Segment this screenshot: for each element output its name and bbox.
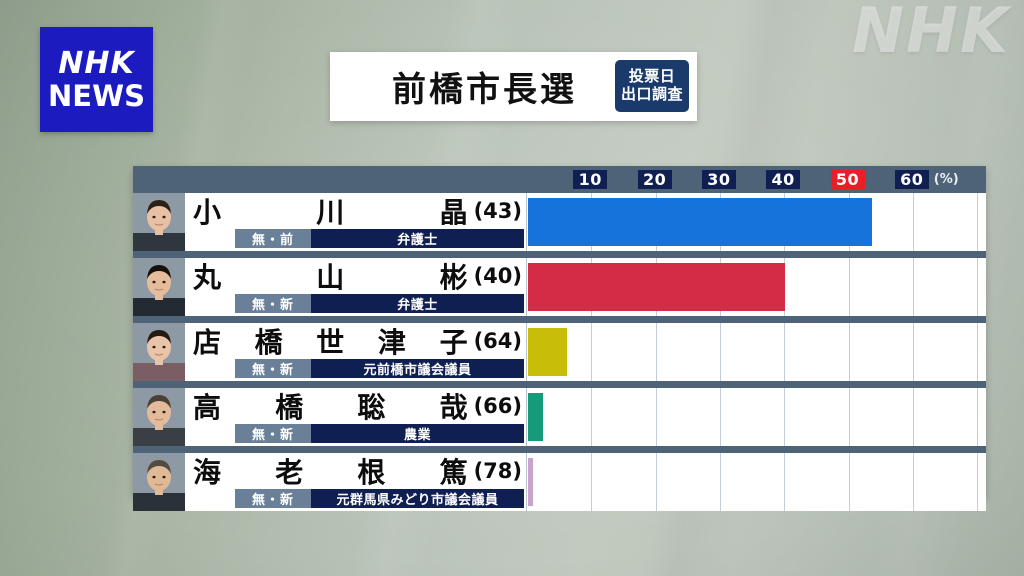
gridline-40 (784, 388, 785, 446)
name-char: 橋 (275, 386, 304, 426)
bar-plot-area (526, 453, 986, 511)
candidate-name-row: 丸山彬(40) (185, 258, 526, 294)
gridline-50 (849, 258, 850, 316)
name-char: 世 (316, 321, 345, 361)
candidate-age: (40) (474, 264, 522, 288)
candidate-occupation-badge: 弁護士 (311, 294, 524, 313)
gridline-30 (720, 323, 721, 381)
name-char: 津 (378, 321, 407, 361)
gridline-20 (656, 453, 657, 511)
gridline-10 (591, 323, 592, 381)
name-char: 篤 (440, 451, 469, 491)
candidate-info: 店橋世津子(64)無・新元前橋市議会議員 (133, 323, 526, 381)
gridline-60 (913, 323, 914, 381)
gridline-60 (913, 193, 914, 251)
candidate-info: 丸山彬(40)無・新弁護士 (133, 258, 526, 316)
name-char: 晶 (440, 191, 469, 231)
exit-poll-badge: 投票日 出口調査 (615, 60, 689, 112)
name-char: 店 (193, 321, 222, 361)
candidate-tags: 無・新弁護士 (235, 294, 524, 313)
table-row: 店橋世津子(64)無・新元前橋市議会議員 (133, 323, 986, 381)
table-row: 高橋聡哉(66)無・新農業 (133, 388, 986, 446)
candidate-info: 小川晶(43)無・前弁護士 (133, 193, 526, 251)
candidate-age: (64) (474, 329, 522, 353)
gridline-20 (656, 323, 657, 381)
axis-unit-label: (%) (934, 172, 959, 187)
title-plate: 前橋市長選 投票日 出口調査 (330, 52, 697, 121)
candidate-name-row: 高橋聡哉(66) (185, 388, 526, 424)
candidate-name: 丸山彬 (193, 256, 471, 296)
logo-line-news: NEWS (48, 81, 145, 111)
badge-line-voting-day: 投票日 (629, 68, 676, 86)
candidate-occupation-badge: 元群馬県みどり市議会議員 (311, 489, 524, 508)
candidate-status-badge: 無・新 (235, 489, 311, 508)
candidate-name: 店橋世津子 (193, 321, 471, 361)
result-bar (528, 393, 543, 441)
page-title: 前橋市長選 (392, 62, 577, 111)
candidate-tags: 無・前弁護士 (235, 229, 524, 248)
axis-scale-bar: 102030405060(%) (133, 166, 986, 193)
candidate-tags: 無・新元前橋市議会議員 (235, 359, 524, 378)
candidate-age: (66) (474, 394, 522, 418)
candidate-name: 海老根篤 (193, 451, 471, 491)
table-row: 海老根篤(78)無・新元群馬県みどり市議会議員 (133, 453, 986, 511)
name-char: 高 (193, 386, 222, 426)
name-char: 橋 (255, 321, 284, 361)
candidate-occupation-badge: 農業 (311, 424, 524, 443)
candidate-name-row: 海老根篤(78) (185, 453, 526, 489)
nhk-news-logo: NHK NEWS (40, 27, 153, 132)
axis-tick-50: 50 (831, 170, 865, 189)
gridline-30 (720, 453, 721, 511)
candidate-name-row: 店橋世津子(64) (185, 323, 526, 359)
candidate-name: 小川晶 (193, 191, 471, 231)
gridline-70 (977, 453, 978, 511)
candidate-photo (133, 453, 185, 511)
candidate-age: (78) (474, 459, 522, 483)
axis-tick-30: 30 (702, 170, 736, 189)
gridline-60 (913, 453, 914, 511)
candidate-rows: 小川晶(43)無・前弁護士丸山彬(40)無・新弁護士店橋世津子(64)無・新元前… (133, 193, 986, 511)
candidate-details: 店橋世津子(64)無・新元前橋市議会議員 (185, 323, 526, 381)
candidate-status-badge: 無・新 (235, 294, 311, 313)
candidate-occupation-badge: 元前橋市議会議員 (311, 359, 524, 378)
candidate-info: 高橋聡哉(66)無・新農業 (133, 388, 526, 446)
candidate-occupation-badge: 弁護士 (311, 229, 524, 248)
candidate-photo (133, 388, 185, 446)
gridline-60 (913, 258, 914, 316)
bar-plot-area (526, 193, 986, 251)
candidate-status-badge: 無・前 (235, 229, 311, 248)
gridline-50 (849, 388, 850, 446)
gridline-50 (849, 323, 850, 381)
bar-plot-area (526, 388, 986, 446)
logo-line-nhk: NHK (58, 48, 134, 80)
gridline-40 (784, 323, 785, 381)
name-char: 老 (275, 451, 304, 491)
candidate-name-row: 小川晶(43) (185, 193, 526, 229)
gridline-30 (720, 388, 721, 446)
gridline-20 (656, 388, 657, 446)
name-char: 海 (193, 451, 222, 491)
candidate-details: 高橋聡哉(66)無・新農業 (185, 388, 526, 446)
axis-tick-10: 10 (573, 170, 607, 189)
bar-plot-area (526, 258, 986, 316)
candidate-tags: 無・新元群馬県みどり市議会議員 (235, 489, 524, 508)
result-bar (528, 198, 872, 246)
candidate-details: 海老根篤(78)無・新元群馬県みどり市議会議員 (185, 453, 526, 511)
candidate-photo (133, 258, 185, 316)
name-char: 根 (357, 451, 386, 491)
gridline-50 (849, 453, 850, 511)
results-panel: 102030405060(%) 小川晶(43)無・前弁護士丸山彬(40)無・新弁… (133, 166, 986, 496)
candidate-age: (43) (474, 199, 522, 223)
gridline-40 (784, 453, 785, 511)
candidate-photo (133, 193, 185, 251)
gridline-10 (591, 388, 592, 446)
result-bar (528, 458, 533, 506)
candidate-info: 海老根篤(78)無・新元群馬県みどり市議会議員 (133, 453, 526, 511)
gridline-70 (977, 258, 978, 316)
candidate-name: 高橋聡哉 (193, 386, 471, 426)
name-char: 川 (316, 191, 345, 231)
name-char: 小 (193, 191, 222, 231)
table-row: 小川晶(43)無・前弁護士 (133, 193, 986, 251)
result-bar (528, 263, 785, 311)
gridline-70 (977, 323, 978, 381)
candidate-tags: 無・新農業 (235, 424, 524, 443)
name-char: 山 (316, 256, 345, 296)
gridline-70 (977, 193, 978, 251)
badge-line-exit-poll: 出口調査 (621, 86, 683, 104)
gridline-60 (913, 388, 914, 446)
candidate-photo (133, 323, 185, 381)
table-row: 丸山彬(40)無・新弁護士 (133, 258, 986, 316)
name-char: 丸 (193, 256, 222, 296)
candidate-status-badge: 無・新 (235, 424, 311, 443)
candidate-status-badge: 無・新 (235, 359, 311, 378)
axis-tick-60: 60 (895, 170, 929, 189)
name-char: 彬 (440, 256, 469, 296)
bar-plot-area (526, 323, 986, 381)
name-char: 聡 (357, 386, 386, 426)
axis-tick-20: 20 (638, 170, 672, 189)
name-char: 子 (440, 321, 469, 361)
result-bar (528, 328, 567, 376)
nhk-watermark: NHK (852, 0, 1010, 67)
candidate-details: 丸山彬(40)無・新弁護士 (185, 258, 526, 316)
axis-tick-40: 40 (766, 170, 800, 189)
gridline-70 (977, 388, 978, 446)
name-char: 哉 (440, 386, 469, 426)
candidate-details: 小川晶(43)無・前弁護士 (185, 193, 526, 251)
gridline-10 (591, 453, 592, 511)
